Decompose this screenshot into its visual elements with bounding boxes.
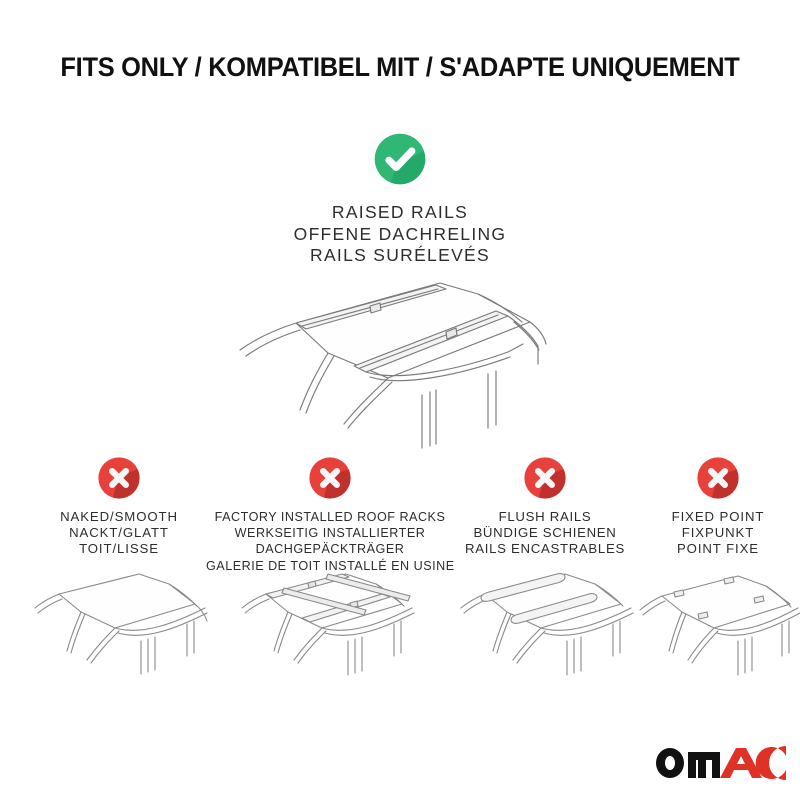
car-roof-naked-smooth-illustration <box>19 556 219 676</box>
omac-logo-letter-o <box>656 748 684 778</box>
omac-logo-letter-m <box>688 752 720 778</box>
compatible-label-en: RAISED RAILS <box>0 202 800 224</box>
incompatible-section: NAKED/SMOOTH NACKT/GLATT TOIT/LISSE <box>0 452 800 692</box>
compatible-label-de: OFFENE DACHRELING <box>0 224 800 246</box>
naked-smooth-label-en: NAKED/SMOOTH <box>8 509 230 525</box>
incompatible-item-fixed-point: FIXED POINT FIXPUNKT POINT FIXE <box>638 452 798 558</box>
compatible-labels: RAISED RAILS OFFENE DACHRELING RAILS SUR… <box>0 202 800 267</box>
factory-racks-label-en: FACTORY INSTALLED ROOF RACKS <box>206 509 454 525</box>
naked-smooth-labels: NAKED/SMOOTH NACKT/GLATT TOIT/LISSE <box>8 509 230 558</box>
flush-rails-labels: FLUSH RAILS BÜNDIGE SCHIENEN RAILS ENCAS… <box>440 509 650 558</box>
incompatible-item-factory-racks: FACTORY INSTALLED ROOF RACKS WERKSEITIG … <box>206 452 454 574</box>
car-roof-fixed-point-illustration <box>628 552 800 677</box>
check-circle-icon <box>373 132 427 186</box>
fixed-point-labels: FIXED POINT FIXPUNKT POINT FIXE <box>638 509 798 558</box>
compatible-section: RAISED RAILS OFFENE DACHRELING RAILS SUR… <box>0 132 800 267</box>
x-circle-icon <box>308 456 352 500</box>
naked-smooth-label-de: NACKT/GLATT <box>8 525 230 541</box>
incompatible-item-naked-smooth: NAKED/SMOOTH NACKT/GLATT TOIT/LISSE <box>8 452 230 558</box>
car-roof-flush-rails-illustration <box>445 552 645 677</box>
car-roof-factory-racks-illustration <box>224 552 436 677</box>
compatible-label-fr: RAILS SURÉLEVÉS <box>0 245 800 267</box>
fixed-point-label-de: FIXPUNKT <box>638 525 798 541</box>
omac-logo <box>652 742 788 784</box>
factory-racks-label-de1: WERKSEITIG INSTALLIERTER <box>206 525 454 541</box>
incompatible-item-flush-rails: FLUSH RAILS BÜNDIGE SCHIENEN RAILS ENCAS… <box>440 452 650 558</box>
x-circle-icon <box>523 456 567 500</box>
page-title: FITS ONLY / KOMPATIBEL MIT / S'ADAPTE UN… <box>16 52 784 83</box>
flush-rails-label-de: BÜNDIGE SCHIENEN <box>440 525 650 541</box>
car-roof-raised-rails-illustration <box>178 278 628 453</box>
x-circle-icon <box>696 456 740 500</box>
fixed-point-label-en: FIXED POINT <box>638 509 798 525</box>
x-circle-icon <box>97 456 141 500</box>
flush-rails-label-en: FLUSH RAILS <box>440 509 650 525</box>
